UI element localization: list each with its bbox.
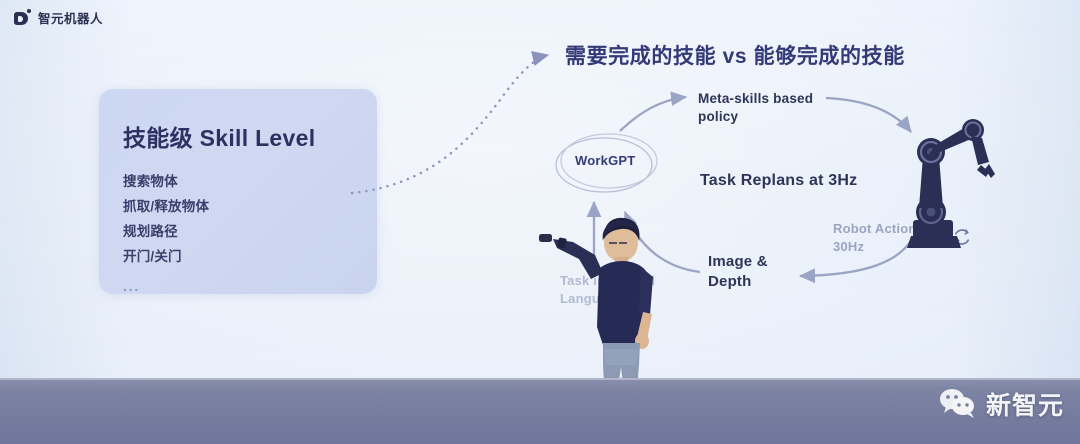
dotted-curved-arrow-icon [352,55,548,193]
image-depth-label-line2: Depth [708,272,768,292]
meta-skills-label: Meta-skills based policy [698,90,813,126]
watermark: 新智元 [938,386,1064,422]
image-depth-label: Image & Depth [708,252,768,291]
stage-floor [0,378,1080,444]
watermark-text: 新智元 [986,386,1064,422]
robotic-arm-icon [885,108,995,253]
task-replans-label: Task Replans at 3Hz [700,172,857,190]
brand-logo: 智元机器人 [14,8,103,27]
workgpt-label: WorkGPT [575,153,635,168]
meta-skills-label-line2: policy [698,108,813,126]
brand-name: 智元机器人 [38,8,103,27]
image-depth-label-line1: Image & [708,252,768,272]
stage-scene: 智元机器人 技能级 Skill Level 搜索物体 抓取/释放物体 规划路径 … [0,0,1080,444]
wechat-icon [938,387,978,421]
meta-skills-label-line1: Meta-skills based [698,90,813,108]
zhiyuan-robot-logo-icon [14,9,31,26]
